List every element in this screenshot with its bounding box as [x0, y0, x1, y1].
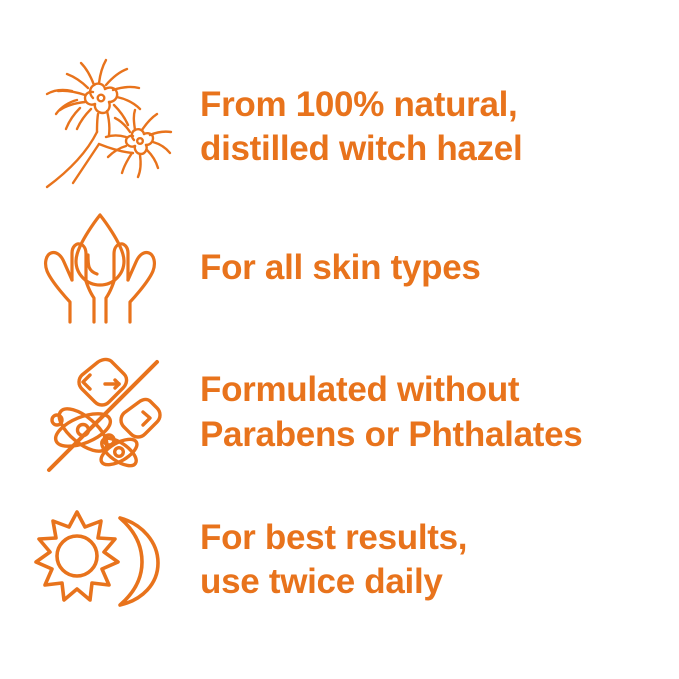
feature-label: Formulated without Parabens or Phthalate… — [200, 368, 679, 456]
feature-label: From 100% natural, distilled witch hazel — [200, 83, 679, 171]
feature-icon-cell — [0, 508, 200, 612]
feature-row: From 100% natural, distilled witch hazel — [0, 52, 679, 202]
feature-text-cell: For best results, use twice daily — [200, 516, 679, 604]
hands-holding-droplet-icon — [30, 209, 170, 327]
feature-row: For all skin types — [0, 208, 679, 328]
product-benefits-infographic: From 100% natural, distilled witch hazel — [0, 0, 679, 679]
feature-icon-cell — [0, 348, 200, 478]
feature-text-cell: For all skin types — [200, 246, 679, 290]
feature-text-cell: Formulated without Parabens or Phthalate… — [200, 368, 679, 456]
no-chemicals-molecule-icon — [35, 348, 165, 478]
feature-icon-cell — [0, 52, 200, 202]
feature-label: For best results, use twice daily — [200, 516, 679, 604]
feature-row: For best results, use twice daily — [0, 500, 679, 620]
sun-and-moon-icon — [30, 508, 170, 612]
feature-row: Formulated without Parabens or Phthalate… — [0, 345, 679, 480]
witch-hazel-flower-icon — [25, 52, 175, 202]
feature-label: For all skin types — [200, 246, 679, 290]
feature-icon-cell — [0, 209, 200, 327]
feature-text-cell: From 100% natural, distilled witch hazel — [200, 83, 679, 171]
